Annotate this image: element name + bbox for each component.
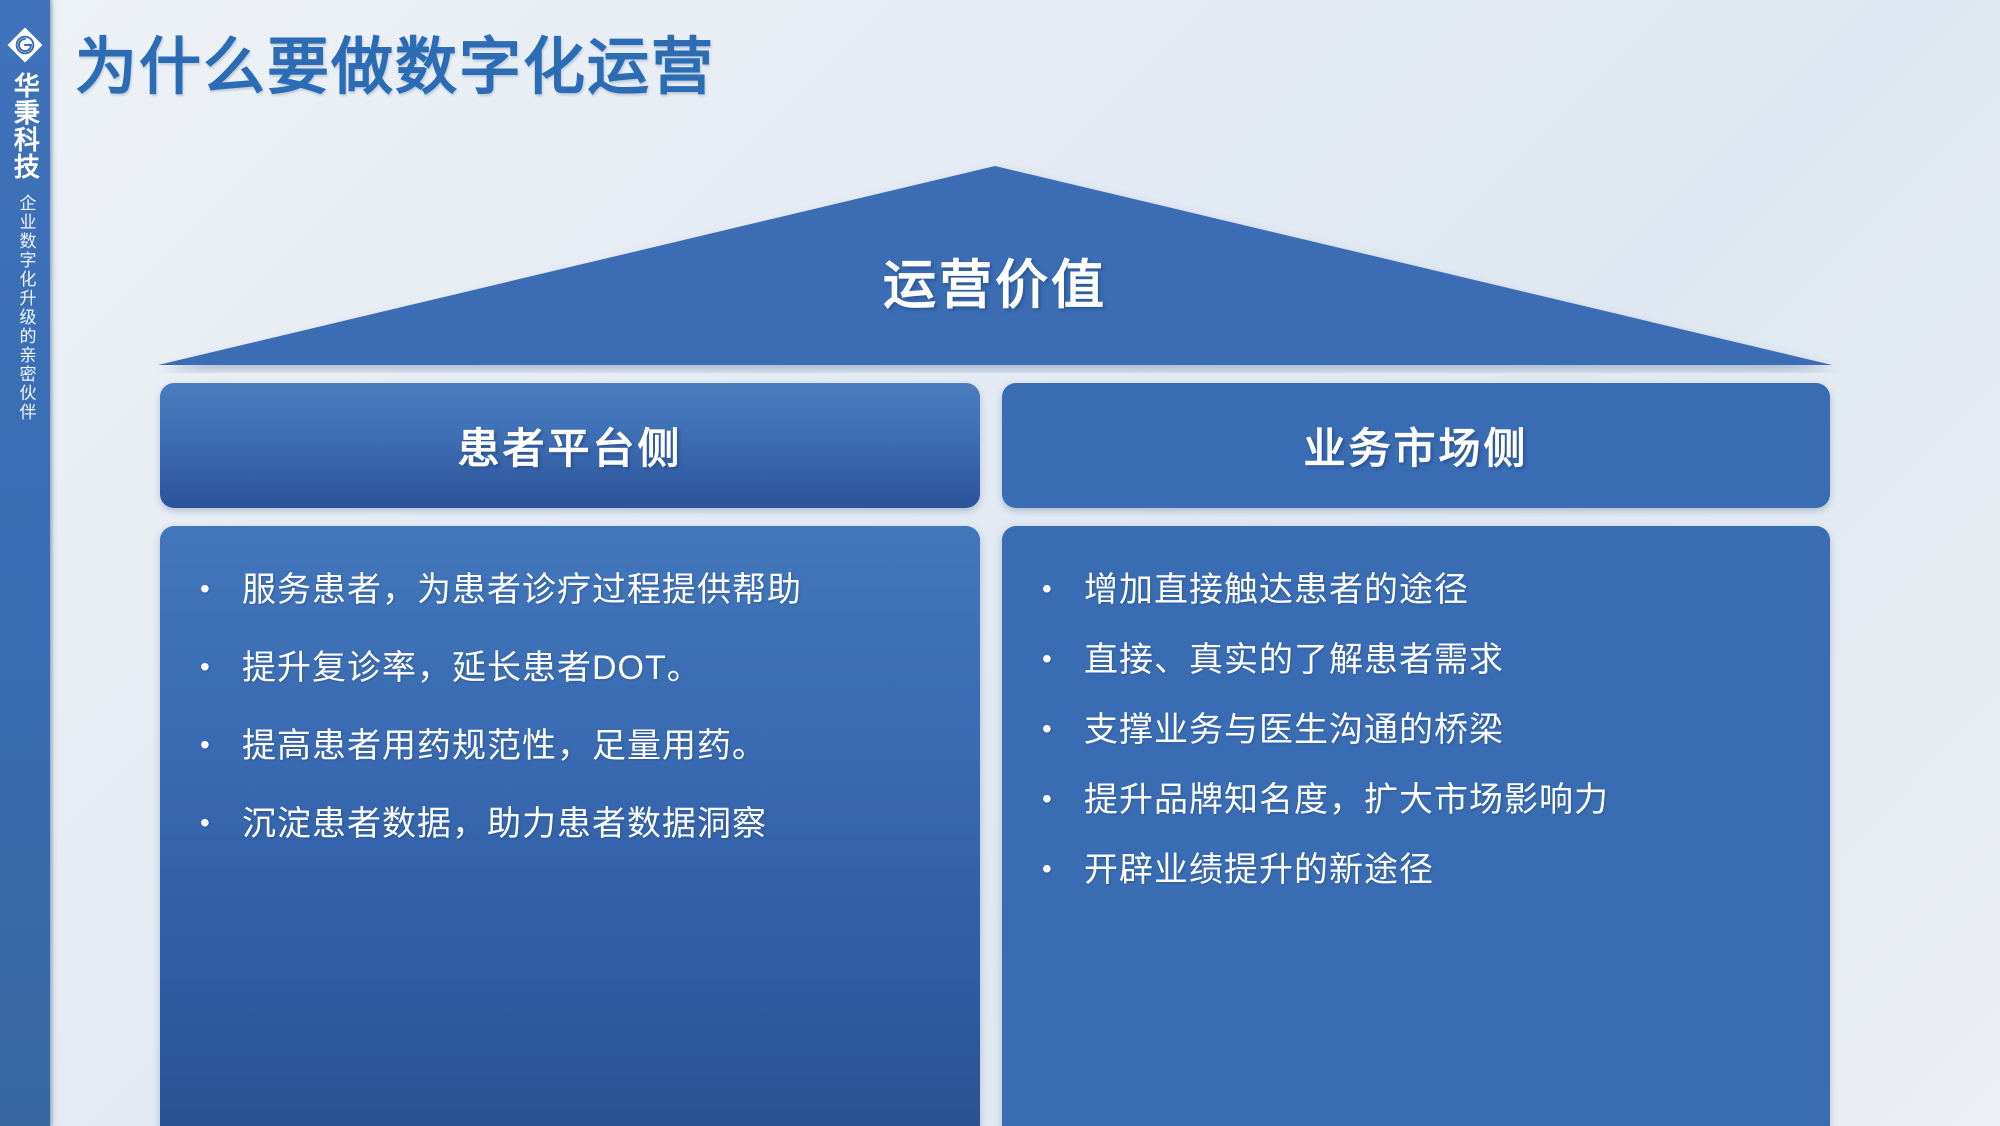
- brand-name: 华秉科技: [10, 72, 41, 180]
- list-item: • 沉淀患者数据，助力患者数据洞察: [200, 802, 946, 848]
- column-header-business-market[interactable]: 业务市场侧: [1002, 383, 1830, 508]
- list-item-text: 直接、真实的了解患者需求: [1084, 638, 1796, 684]
- list-item: • 支撑业务与医生沟通的桥梁: [1042, 708, 1796, 754]
- list-item: • 服务患者，为患者诊疗过程提供帮助: [200, 568, 946, 614]
- bullet-list-patient-platform: • 服务患者，为患者诊疗过程提供帮助 • 提升复诊率，延长患者DOT。 • 提高…: [200, 568, 946, 848]
- list-item-text: 支撑业务与医生沟通的桥梁: [1084, 708, 1796, 754]
- list-item-text: 提升复诊率，延长患者DOT。: [242, 646, 946, 692]
- list-item: • 提高患者用药规范性，足量用药。: [200, 724, 946, 770]
- bullet-marker-icon: •: [1042, 638, 1084, 680]
- bullet-marker-icon: •: [200, 646, 242, 688]
- column-body-business-market: • 增加直接触达患者的途径 • 直接、真实的了解患者需求 • 支撑业务与医生沟通…: [1002, 526, 1830, 1126]
- column-header-label: 患者平台侧: [457, 415, 682, 476]
- list-item: • 提升复诊率，延长患者DOT。: [200, 646, 946, 692]
- company-logo-icon: [6, 26, 44, 64]
- bullet-marker-icon: •: [200, 724, 242, 766]
- list-item: • 开辟业绩提升的新途径: [1042, 848, 1796, 894]
- list-item-text: 增加直接触达患者的途径: [1084, 568, 1796, 614]
- list-item-text: 提升品牌知名度，扩大市场影响力: [1084, 778, 1796, 824]
- list-item-text: 沉淀患者数据，助力患者数据洞察: [242, 802, 946, 848]
- page-title: 为什么要做数字化运营: [75, 16, 715, 106]
- list-item: • 提升品牌知名度，扩大市场影响力: [1042, 778, 1796, 824]
- column-header-label: 业务市场侧: [1303, 415, 1528, 476]
- bullet-marker-icon: •: [1042, 848, 1084, 890]
- bullet-marker-icon: •: [200, 568, 242, 610]
- sidebar-edge-shadow: [50, 0, 54, 1126]
- roof-triangle: 运营价值: [150, 158, 1840, 373]
- bullet-marker-icon: •: [1042, 708, 1084, 750]
- brand-sidebar: 华秉科技 企业数字化升级的亲密伙伴: [0, 0, 50, 1126]
- brand-tagline: 企业数字化升级的亲密伙伴: [14, 194, 37, 422]
- slide-canvas: 华秉科技 企业数字化升级的亲密伙伴 为什么要做数字化运营 运营价值 患者平台侧: [0, 0, 2000, 1126]
- list-item-text: 服务患者，为患者诊疗过程提供帮助: [242, 568, 946, 614]
- bullet-marker-icon: •: [1042, 568, 1084, 610]
- list-item-text: 开辟业绩提升的新途径: [1084, 848, 1796, 894]
- bullet-list-business-market: • 增加直接触达患者的途径 • 直接、真实的了解患者需求 • 支撑业务与医生沟通…: [1042, 568, 1796, 893]
- bullet-marker-icon: •: [1042, 778, 1084, 820]
- column-body-patient-platform: • 服务患者，为患者诊疗过程提供帮助 • 提升复诊率，延长患者DOT。 • 提高…: [160, 526, 980, 1126]
- list-item-text: 提高患者用药规范性，足量用药。: [242, 724, 946, 770]
- columns-container: 患者平台侧 • 服务患者，为患者诊疗过程提供帮助 • 提升复诊率，延长患者DOT…: [160, 383, 1830, 1126]
- list-item: • 直接、真实的了解患者需求: [1042, 638, 1796, 684]
- column-patient-platform: 患者平台侧 • 服务患者，为患者诊疗过程提供帮助 • 提升复诊率，延长患者DOT…: [160, 383, 980, 1126]
- column-business-market: 业务市场侧 • 增加直接触达患者的途径 • 直接、真实的了解患者需求 • 支撑业…: [1002, 383, 1830, 1126]
- column-header-patient-platform[interactable]: 患者平台侧: [160, 383, 980, 508]
- list-item: • 增加直接触达患者的途径: [1042, 568, 1796, 614]
- bullet-marker-icon: •: [200, 802, 242, 844]
